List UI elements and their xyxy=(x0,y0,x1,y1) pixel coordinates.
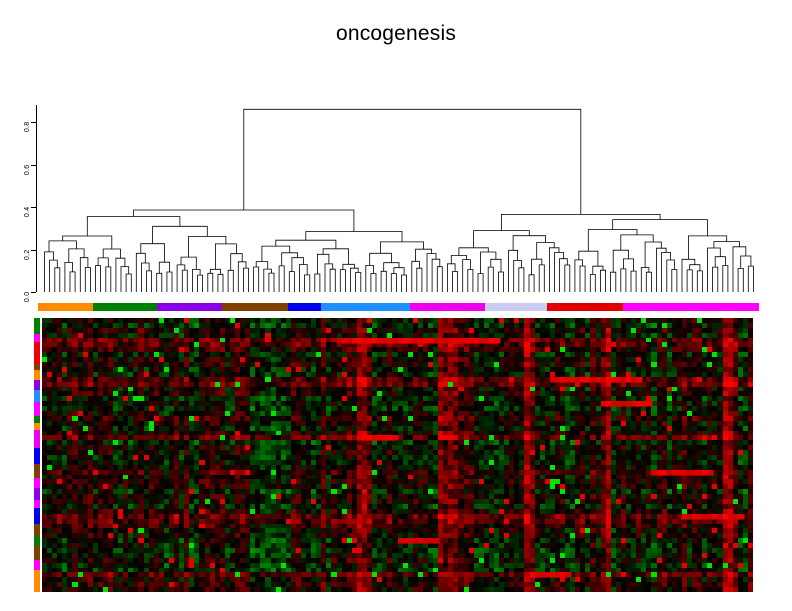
axis-line xyxy=(36,105,37,292)
axis-tick-mark xyxy=(31,122,36,123)
page-title: oncogenesis xyxy=(0,22,792,46)
axis-tick-label: 0.0 xyxy=(25,292,32,303)
heatmap-canvas xyxy=(42,318,753,592)
row-color-segment xyxy=(34,500,40,508)
row-color-segment xyxy=(34,546,40,560)
axis-tick-mark xyxy=(31,292,36,293)
row-color-segment xyxy=(34,508,40,524)
column-color-segment xyxy=(93,303,157,311)
column-color-segment xyxy=(222,303,288,311)
row-color-segment xyxy=(34,370,40,380)
axis-tick-label: 0.6 xyxy=(25,164,32,175)
column-color-segment xyxy=(288,303,321,311)
row-color-segment xyxy=(34,416,40,423)
row-color-segment xyxy=(34,536,40,546)
column-color-segment xyxy=(485,303,547,311)
height-axis: 0.80.60.40.20.0 xyxy=(0,88,42,303)
axis-tick-label: 0.2 xyxy=(25,249,32,260)
column-color-segment xyxy=(321,303,410,311)
axis-tick-mark xyxy=(31,250,36,251)
heatmap-figure: oncogenesis 0.80.60.40.20.0 xyxy=(0,0,792,611)
row-color-segment xyxy=(34,430,40,448)
row-color-segment xyxy=(34,342,40,364)
axis-tick-mark xyxy=(31,207,36,208)
column-color-segment xyxy=(623,303,759,311)
row-color-segment xyxy=(34,478,40,488)
row-color-segment xyxy=(34,488,40,500)
dendrogram-panel: 0.80.60.40.20.0 xyxy=(0,88,792,303)
row-color-bar xyxy=(34,318,40,592)
row-color-segment xyxy=(34,464,40,478)
row-color-segment xyxy=(34,448,40,464)
row-color-segment xyxy=(34,560,40,570)
row-color-segment xyxy=(34,334,40,342)
heatmap-matrix xyxy=(42,318,753,592)
row-color-segment xyxy=(34,402,40,416)
row-color-segment xyxy=(34,524,40,536)
row-color-segment xyxy=(34,318,40,334)
row-color-segment xyxy=(34,390,40,402)
column-dendrogram xyxy=(38,88,760,303)
row-color-segment xyxy=(34,423,40,430)
column-color-segment xyxy=(38,303,93,311)
column-color-bar xyxy=(38,303,759,311)
row-color-segment xyxy=(34,380,40,390)
axis-tick-label: 0.4 xyxy=(25,207,32,218)
axis-tick-mark xyxy=(31,165,36,166)
column-color-segment xyxy=(410,303,485,311)
column-color-segment xyxy=(547,303,623,311)
row-color-segment xyxy=(34,570,40,592)
column-color-segment xyxy=(157,303,222,311)
axis-tick-label: 0.8 xyxy=(25,122,32,133)
